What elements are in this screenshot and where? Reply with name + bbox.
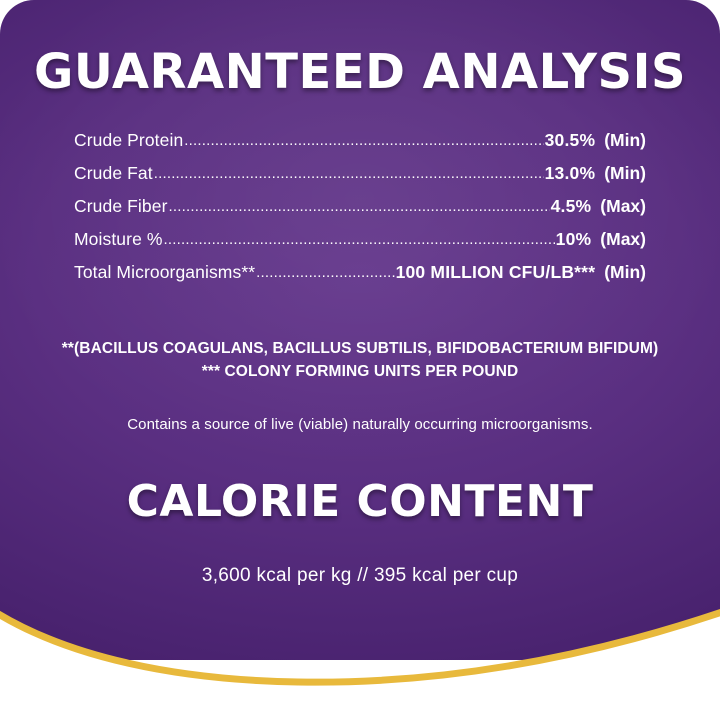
row-label: Total Microorganisms** bbox=[74, 262, 255, 283]
table-row: Moisture % .............................… bbox=[74, 229, 646, 262]
row-label: Crude Protein bbox=[74, 130, 183, 151]
table-row: Crude Fat ..............................… bbox=[74, 163, 646, 196]
row-qualifier: (Min) bbox=[595, 130, 646, 151]
row-qualifier: (Min) bbox=[595, 262, 646, 283]
leader-dots: ........................................… bbox=[256, 264, 394, 281]
table-row: Total Microorganisms** .................… bbox=[74, 262, 646, 295]
row-qualifier: (Max) bbox=[591, 196, 646, 217]
table-row: Crude Fiber ............................… bbox=[74, 196, 646, 229]
panel-content: GUARANTEED ANALYSIS Crude Protein ......… bbox=[0, 0, 720, 660]
page-title-calorie-content: CALORIE CONTENT bbox=[0, 476, 720, 528]
contains-live-microorganisms-note: Contains a source of live (viable) natur… bbox=[0, 416, 720, 433]
row-value: 10% bbox=[556, 229, 592, 250]
guaranteed-analysis-table: Crude Protein ..........................… bbox=[74, 130, 646, 295]
footnote-bacteria-strains: **(BACILLUS COAGULANS, BACILLUS SUBTILIS… bbox=[0, 340, 720, 358]
row-label: Moisture % bbox=[74, 229, 163, 250]
row-value: 13.0% bbox=[545, 163, 596, 184]
leader-dots: ........................................… bbox=[154, 165, 544, 182]
calorie-values-text: 3,600 kcal per kg // 395 kcal per cup bbox=[0, 565, 720, 587]
row-qualifier: (Min) bbox=[595, 163, 646, 184]
nutrition-panel-page: GUARANTEED ANALYSIS Crude Protein ......… bbox=[0, 0, 720, 720]
leader-dots: ........................................… bbox=[184, 132, 543, 149]
leader-dots: ........................................… bbox=[169, 198, 550, 215]
row-qualifier: (Max) bbox=[591, 229, 646, 250]
table-row: Crude Protein ..........................… bbox=[74, 130, 646, 163]
row-value: 100 MILLION CFU/LB*** bbox=[396, 262, 596, 283]
footnote-cfu-definition: *** COLONY FORMING UNITS PER POUND bbox=[0, 363, 720, 381]
row-label: Crude Fat bbox=[74, 163, 153, 184]
row-label: Crude Fiber bbox=[74, 196, 168, 217]
page-title-guaranteed-analysis: GUARANTEED ANALYSIS bbox=[0, 44, 720, 100]
row-value: 30.5% bbox=[545, 130, 596, 151]
row-value: 4.5% bbox=[551, 196, 592, 217]
leader-dots: ........................................… bbox=[164, 231, 555, 248]
